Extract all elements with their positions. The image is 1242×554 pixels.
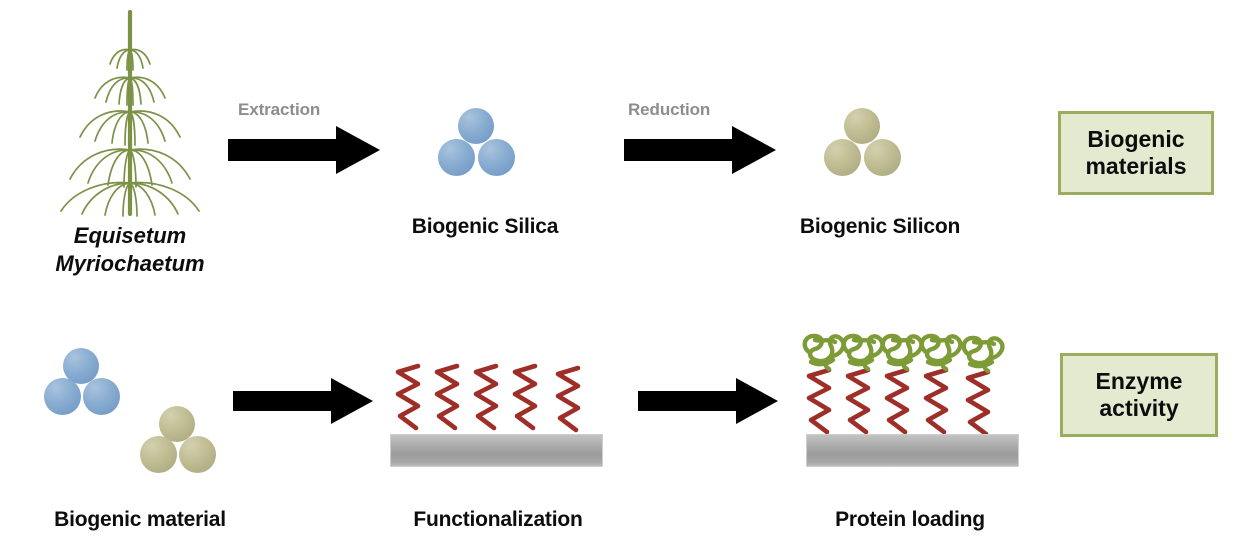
- linker-chain: [809, 370, 829, 432]
- functionalization-label: Functionalization: [383, 508, 613, 532]
- silica-particle: [458, 108, 494, 144]
- linker-chain: [887, 370, 907, 432]
- protein-loaded-substrate-bar: [806, 434, 1019, 467]
- linker-chain: [398, 366, 418, 428]
- legend-biogenic-materials: Biogenic materials: [1058, 111, 1214, 195]
- silica-particle: [438, 139, 475, 176]
- legend-biogenic-materials-text: Biogenic materials: [1085, 126, 1186, 180]
- linker-chain: [848, 370, 868, 432]
- silica-particle: [83, 378, 120, 415]
- functionalized-substrate-bar: [390, 434, 603, 467]
- linker-chain: [515, 366, 535, 428]
- biogenic-silicon-particles: [824, 108, 916, 193]
- silicon-particle: [140, 436, 177, 473]
- linker-chain: [437, 366, 457, 428]
- protein-blob: [964, 338, 1003, 371]
- linker-chain: [476, 366, 496, 428]
- species-label: Equisetum Myriochaetum: [10, 222, 250, 277]
- silica-particle: [44, 378, 81, 415]
- protein-blob: [805, 336, 844, 369]
- functionalization-right-arrow-icon: [233, 378, 373, 424]
- biogenic-material-silicon-cluster: [140, 406, 232, 486]
- figure-canvas: Equisetum Myriochaetum Extraction Biogen…: [0, 0, 1242, 554]
- silicon-particle: [179, 436, 216, 473]
- legend-enzyme-activity: Enzyme activity: [1060, 353, 1218, 437]
- linker-chain: [926, 370, 946, 432]
- silicon-particle: [844, 108, 880, 144]
- biogenic-silica-particles: [438, 108, 530, 193]
- biogenic-silica-label: Biogenic Silica: [370, 215, 600, 239]
- silicon-particle: [864, 139, 901, 176]
- silica-particle: [478, 139, 515, 176]
- linker-chain: [558, 368, 578, 430]
- legend-enzyme-activity-text: Enzyme activity: [1096, 368, 1183, 422]
- reduction-right-arrow-icon: [624, 126, 776, 174]
- silicon-particle: [824, 139, 861, 176]
- horsetail-plant-icon: [38, 8, 223, 218]
- protein-loading-label: Protein loading: [795, 508, 1025, 532]
- species-genus: Equisetum: [10, 222, 250, 250]
- biogenic-silicon-label: Biogenic Silicon: [765, 215, 995, 239]
- protein-blob: [883, 336, 922, 369]
- protein-blob: [922, 336, 961, 369]
- reduction-arrow-label: Reduction: [628, 100, 710, 120]
- biogenic-material-silica-cluster: [44, 348, 136, 428]
- species-epithet: Myriochaetum: [10, 250, 250, 278]
- linker-chain: [968, 372, 988, 434]
- biogenic-material-label: Biogenic material: [20, 508, 260, 532]
- extraction-arrow-label: Extraction: [238, 100, 320, 120]
- protein-blob: [844, 336, 883, 369]
- extraction-right-arrow-icon: [228, 126, 380, 174]
- protein-loading-right-arrow-icon: [638, 378, 778, 424]
